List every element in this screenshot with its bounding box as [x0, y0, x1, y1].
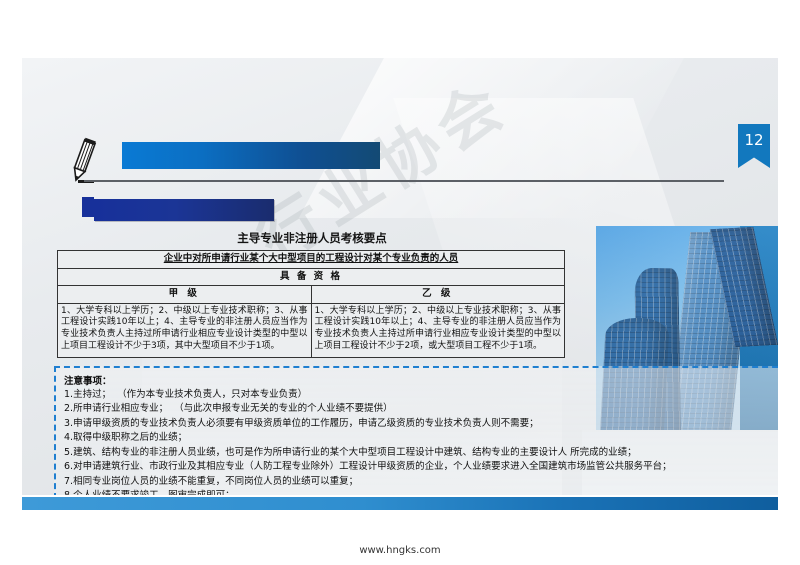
table-cell-grade-a-requirements: 1、大学专科以上学历；2、中级以上专业技术职称；3、从事工程设计实践10年以上；… [58, 303, 312, 358]
notes-panel: 注意事项： 1.主持过； （作为本专业技术负责人，只对本专业负责） 2.所申请行… [54, 366, 778, 510]
note-item-2: 2.所申请行业相应专业； （与此次申报专业无关的专业的个人业绩不要提供） [64, 402, 778, 416]
title-accent-bar [122, 142, 380, 169]
subtitle-marker-square [82, 197, 94, 217]
table-row-qualification: 具 备 资 格 [58, 268, 565, 286]
note-item-4: 4.取得中级职称之后的业绩； [64, 431, 778, 445]
table-cell-grade-b-requirements: 1、大学专科以上学历；2、中级以上专业技术职称；3、从事工程设计实践10年以上；… [311, 303, 565, 358]
page-root: 行业协会 12 [0, 0, 800, 565]
table-row-header-span: 企业中对所申请行业某个大中型项目的工程设计对某个专业负责的人员 [58, 251, 565, 269]
footer-url: www.hngks.com [0, 545, 800, 556]
page-number-label: 12 [738, 131, 770, 149]
table-row-grades: 甲 级 乙 级 [58, 286, 565, 304]
table-header-span: 企业中对所申请行业某个大中型项目的工程设计对某个专业负责的人员 [58, 251, 565, 269]
slide-bottom-bar [22, 495, 778, 510]
notes-title: 注意事项： [64, 373, 778, 387]
background-facet-a [299, 58, 705, 218]
note-item-7: 7.相同专业岗位人员的业绩不能重复，不同岗位人员的业绩可以重复； [64, 475, 778, 489]
note-item-6: 6.对申请建筑行业、市政行业及其相应专业（人防工程专业除外）工程设计甲级资质的企… [64, 460, 778, 474]
table-column-header-grade-a: 甲 级 [58, 286, 312, 304]
page-number-badge: 12 [738, 124, 770, 168]
table-row: 1、大学专科以上学历；2、中级以上专业技术职称；3、从事工程设计实践10年以上；… [58, 303, 565, 358]
note-item-1: 1.主持过； （作为本专业技术负责人，只对本专业负责） [64, 388, 778, 402]
table-column-header-grade-b: 乙 级 [311, 286, 565, 304]
note-item-5: 5.建筑、结构专业的非注册人员业绩，也可是作为所申请行业的某个大中型项目工程设计… [64, 446, 778, 460]
title-divider-rule [84, 180, 724, 182]
note-item-3: 3.申请甲级资质的专业技术负责人必须要有甲级资质单位的工作履历，申请乙级资质的专… [64, 417, 778, 431]
table-header-qualification: 具 备 资 格 [58, 268, 565, 286]
qualification-table: 企业中对所申请行业某个大中型项目的工程设计对某个专业负责的人员 具 备 资 格 … [57, 250, 565, 358]
page-title: 主导专业非注册人员考核要点 [57, 230, 567, 246]
slide-canvas: 行业协会 12 [22, 58, 778, 510]
subtitle-accent-bar [94, 199, 274, 221]
